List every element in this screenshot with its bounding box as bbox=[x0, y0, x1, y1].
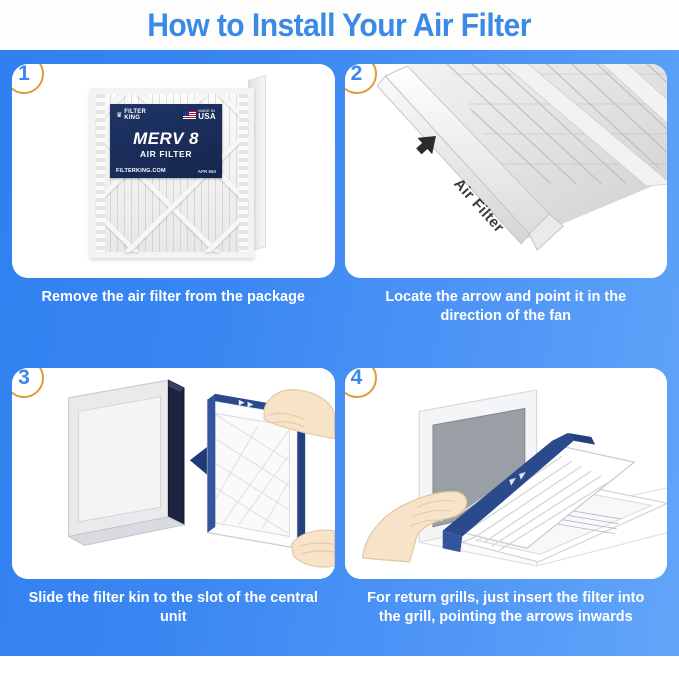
steps-canvas: 1 bbox=[0, 50, 679, 656]
step-caption-3: Slide the filter kin to the slot of the … bbox=[12, 579, 335, 627]
website-url: FILTERKING.COM bbox=[116, 168, 166, 174]
label-top-row: ♛ FILTER KING bbox=[116, 109, 216, 122]
step-panel-3: 3 bbox=[12, 368, 335, 674]
brand-lockup: ♛ FILTER KING bbox=[116, 109, 146, 122]
made-in-usa-text: MADE IN USA bbox=[198, 109, 216, 121]
step-card-3: 3 bbox=[12, 368, 335, 579]
apr-rating: APR 650 bbox=[198, 169, 216, 174]
crown-icon: ♛ bbox=[116, 111, 122, 119]
filter-product-label: ♛ FILTER KING bbox=[110, 104, 222, 178]
step-2-artwork: Air Filter bbox=[345, 64, 668, 278]
brand-line-1: FILTER bbox=[124, 109, 146, 115]
return-grill-illustration bbox=[345, 368, 668, 579]
infographic-poster: How to Install Your Air Filter 1 bbox=[0, 0, 679, 656]
filter-frame-left bbox=[207, 394, 215, 533]
steps-grid: 1 bbox=[0, 50, 679, 656]
step-4-artwork bbox=[345, 368, 668, 579]
step-caption-4: For return grills, just insert the filte… bbox=[345, 579, 668, 627]
air-filter-product-image: ♛ FILTER KING bbox=[84, 80, 266, 258]
country-label: USA bbox=[198, 113, 216, 121]
step-3-artwork bbox=[12, 368, 335, 579]
header-bar: How to Install Your Air Filter bbox=[0, 0, 679, 50]
step-card-4: 4 bbox=[345, 368, 668, 579]
step-card-1: 1 bbox=[12, 64, 335, 278]
product-type: AIR FILTER bbox=[116, 149, 216, 159]
slide-into-slot-illustration bbox=[12, 368, 335, 579]
filter-right-pleat-edge bbox=[239, 94, 248, 252]
central-unit-slot bbox=[69, 380, 184, 545]
brand-line-2: KING bbox=[124, 115, 140, 121]
step-panel-4: 4 bbox=[345, 368, 668, 674]
merv-rating: MERV 8 bbox=[116, 129, 216, 149]
made-in-usa-lockup: MADE IN USA bbox=[183, 109, 216, 121]
filter-left-pleat-edge bbox=[96, 94, 105, 252]
label-bottom-row: FILTERKING.COM APR 650 bbox=[116, 168, 216, 174]
step-panel-2: 2 bbox=[345, 64, 668, 364]
step-caption-1: Remove the air filter from the package bbox=[12, 278, 335, 307]
usa-flag-icon bbox=[183, 111, 196, 119]
page-title: How to Install Your Air Filter bbox=[148, 7, 532, 44]
step-panel-1: 1 bbox=[12, 64, 335, 364]
step-caption-2: Locate the arrow and point it in the dir… bbox=[345, 278, 668, 326]
filter-front-face: ♛ FILTER KING bbox=[90, 88, 254, 258]
step-1-artwork: ♛ FILTER KING bbox=[12, 64, 335, 278]
step-card-2: 2 bbox=[345, 64, 668, 278]
brand-name: FILTER KING bbox=[124, 109, 146, 122]
filter-corner-photo: Air Filter bbox=[345, 64, 668, 278]
